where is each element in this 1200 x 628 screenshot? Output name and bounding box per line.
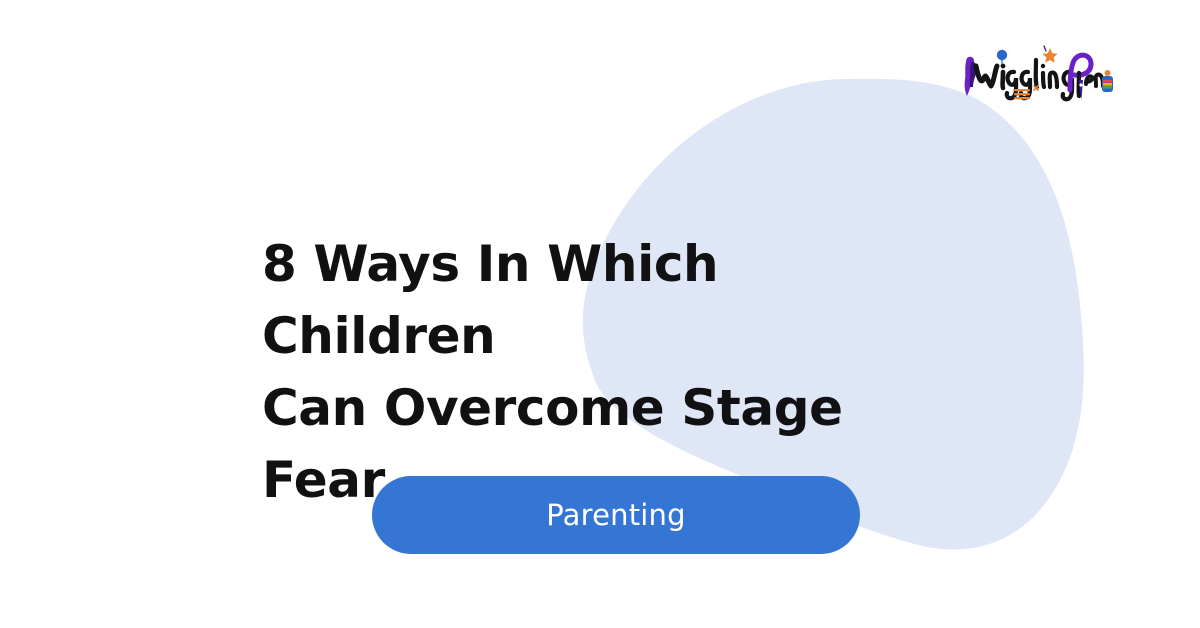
backpack-icon — [1102, 70, 1113, 92]
sparkle-star-icon — [1042, 46, 1057, 63]
category-pill-parenting[interactable]: Parenting — [372, 476, 860, 554]
logo-script-pen — [1070, 55, 1103, 96]
site-logo[interactable] — [958, 42, 1114, 112]
category-pill-label: Parenting — [546, 501, 685, 530]
balloon-icon — [997, 50, 1007, 65]
featured-image-card: 8 Ways In Which Children Can Overcome St… — [0, 0, 1200, 628]
page-title: 8 Ways In Which Children Can Overcome St… — [262, 228, 962, 516]
person-figure-icon — [965, 57, 978, 96]
